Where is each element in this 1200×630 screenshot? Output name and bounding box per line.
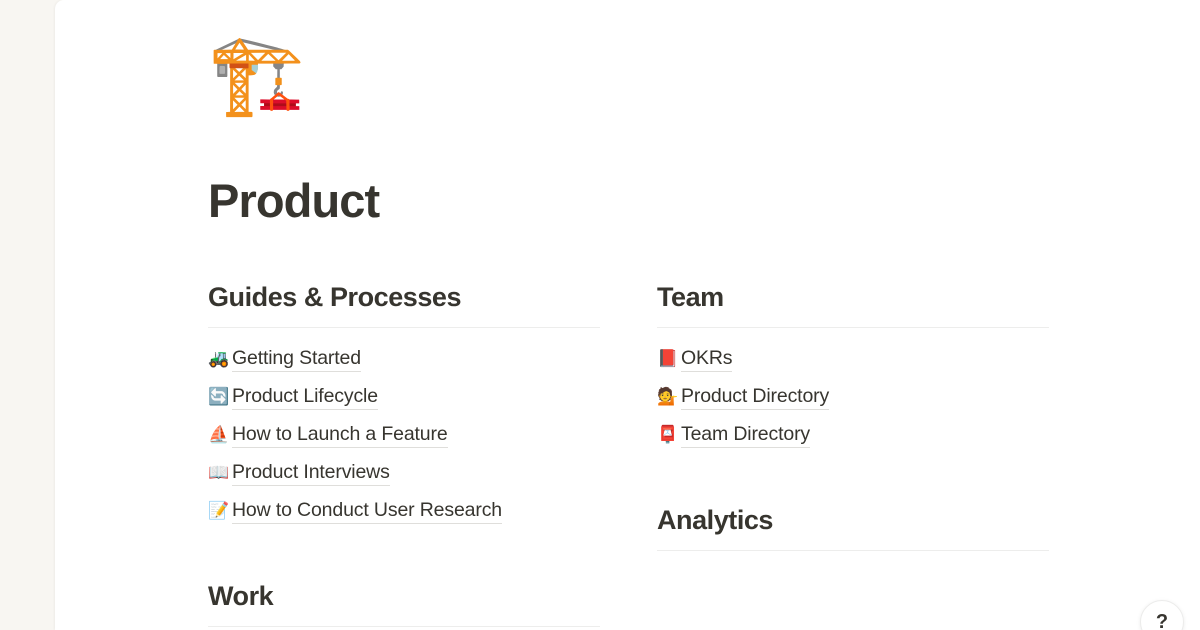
closed-book-emoji: 📕 bbox=[657, 351, 681, 368]
tractor-emoji: 🚜 bbox=[208, 351, 232, 368]
section-heading: Guides & Processes bbox=[208, 280, 600, 315]
list-item[interactable]: 📮 Team Directory bbox=[657, 416, 1049, 454]
list-item[interactable]: 🔄 Product Lifecycle bbox=[208, 378, 600, 416]
link-how-to-launch-a-feature[interactable]: How to Launch a Feature bbox=[232, 422, 448, 448]
section-guides-and-processes: Guides & Processes 🚜 Getting Started 🔄 P… bbox=[208, 280, 600, 530]
page-title: Product bbox=[208, 174, 1108, 228]
link-how-to-conduct-user-research[interactable]: How to Conduct User Research bbox=[232, 498, 502, 524]
help-button[interactable]: ? bbox=[1140, 600, 1184, 630]
section-divider bbox=[657, 550, 1049, 551]
section-columns: Guides & Processes 🚜 Getting Started 🔄 P… bbox=[208, 280, 1108, 627]
list-item[interactable]: 📝 How to Conduct User Research bbox=[208, 492, 600, 530]
building-construction-emoji[interactable]: 🏗️ bbox=[208, 36, 1108, 132]
link-list: 🚜 Getting Started 🔄 Product Lifecycle ⛵ … bbox=[208, 340, 600, 530]
memo-emoji: 📝 bbox=[208, 503, 232, 520]
section-divider bbox=[657, 327, 1049, 328]
list-item[interactable]: 📖 Product Interviews bbox=[208, 454, 600, 492]
counterclockwise-arrows-emoji: 🔄 bbox=[208, 389, 232, 406]
section-heading: Team bbox=[657, 280, 1049, 315]
open-book-emoji: 📖 bbox=[208, 465, 232, 482]
app-window: 🏗️ Product Guides & Processes 🚜 Getting … bbox=[0, 0, 1200, 630]
page-panel: 🏗️ Product Guides & Processes 🚜 Getting … bbox=[55, 0, 1200, 630]
page-content: 🏗️ Product Guides & Processes 🚜 Getting … bbox=[208, 0, 1108, 627]
link-product-lifecycle[interactable]: Product Lifecycle bbox=[232, 384, 378, 410]
sailboat-emoji: ⛵ bbox=[208, 427, 232, 444]
section-work: Work bbox=[208, 579, 600, 627]
person-tipping-hand-emoji: 💁 bbox=[657, 389, 681, 406]
link-team-directory[interactable]: Team Directory bbox=[681, 422, 810, 448]
section-divider bbox=[208, 626, 600, 627]
column-right: Team 📕 OKRs 💁 Product Directory bbox=[657, 280, 1049, 627]
section-heading: Work bbox=[208, 579, 600, 614]
link-okrs[interactable]: OKRs bbox=[681, 346, 732, 372]
list-item[interactable]: 🚜 Getting Started bbox=[208, 340, 600, 378]
section-analytics: Analytics bbox=[657, 503, 1049, 551]
sidebar-rail bbox=[0, 0, 55, 630]
column-left: Guides & Processes 🚜 Getting Started 🔄 P… bbox=[208, 280, 600, 627]
list-item[interactable]: 💁 Product Directory bbox=[657, 378, 1049, 416]
section-team: Team 📕 OKRs 💁 Product Directory bbox=[657, 280, 1049, 454]
list-item[interactable]: 📕 OKRs bbox=[657, 340, 1049, 378]
section-divider bbox=[208, 327, 600, 328]
postbox-emoji: 📮 bbox=[657, 427, 681, 444]
link-product-directory[interactable]: Product Directory bbox=[681, 384, 829, 410]
link-list: 📕 OKRs 💁 Product Directory 📮 Team Direct… bbox=[657, 340, 1049, 454]
link-product-interviews[interactable]: Product Interviews bbox=[232, 460, 390, 486]
list-item[interactable]: ⛵ How to Launch a Feature bbox=[208, 416, 600, 454]
section-heading: Analytics bbox=[657, 503, 1049, 538]
link-getting-started[interactable]: Getting Started bbox=[232, 346, 361, 372]
